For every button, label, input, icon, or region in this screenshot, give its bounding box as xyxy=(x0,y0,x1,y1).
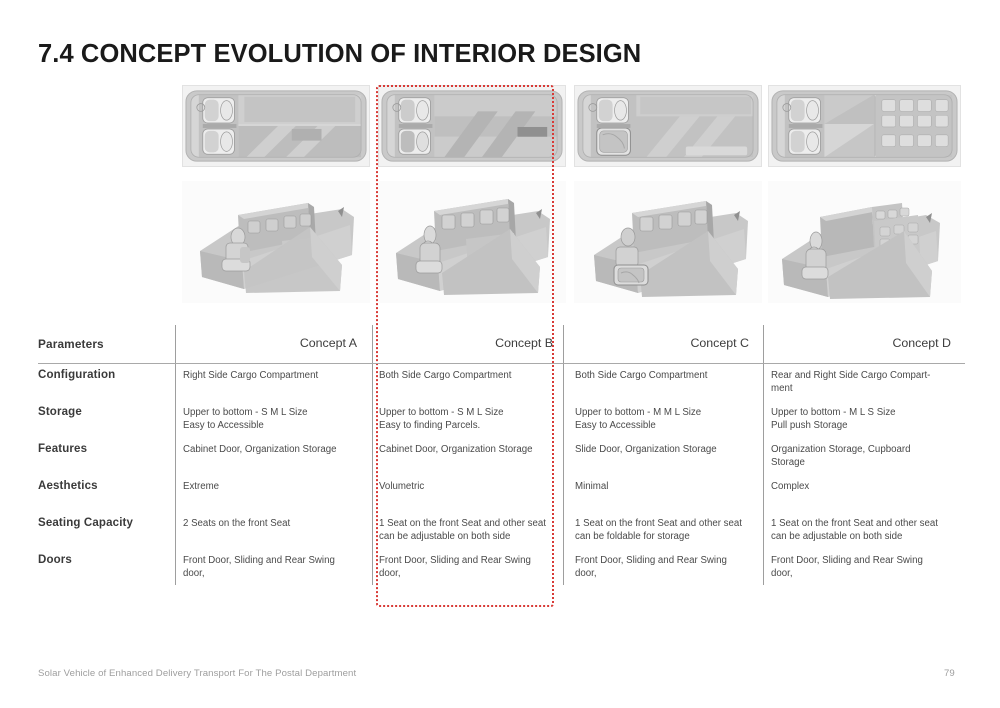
concept-figures-strip xyxy=(175,85,965,315)
concept-figure-b xyxy=(378,85,566,315)
row-value-concept-d: Rear and Right Side Cargo Compart- ment xyxy=(763,363,965,400)
row-value-concept-d: Complex xyxy=(763,474,965,511)
concept-comparison-table: Parameters Concept A Concept B Concept C… xyxy=(38,325,965,585)
page-title: 7.4 CONCEPT EVOLUTION OF INTERIOR DESIGN xyxy=(38,40,641,69)
row-value-concept-d: Upper to bottom - M L S Size Pull push S… xyxy=(763,400,965,437)
van-interior-cutaway-concept-b xyxy=(378,181,566,303)
row-value-concept-c: Slide Door, Organization Storage xyxy=(567,437,763,474)
row-label: Doors xyxy=(38,548,175,585)
row-label: Seating Capacity xyxy=(38,511,175,548)
van-interior-cutaway-concept-c xyxy=(574,181,762,303)
table-row: Configuration Right Side Cargo Compartme… xyxy=(38,363,965,400)
row-value-concept-a: Upper to bottom - S M L Size Easy to Acc… xyxy=(175,400,371,437)
row-value-concept-d: Organization Storage, Cupboard Storage xyxy=(763,437,965,474)
table-header-row: Parameters Concept A Concept B Concept C… xyxy=(38,325,965,363)
header-concept-b: Concept B xyxy=(371,337,567,350)
row-value-concept-a: Right Side Cargo Compartment xyxy=(175,363,371,400)
header-parameters-label: Parameters xyxy=(38,337,175,351)
table-row: Storage Upper to bottom - S M L Size Eas… xyxy=(38,400,965,437)
van-interior-top-view-concept-a xyxy=(182,85,370,167)
row-value-concept-b: 1 Seat on the front Seat and other seat … xyxy=(371,511,567,548)
row-value-concept-b: Volumetric xyxy=(371,474,567,511)
row-label: Configuration xyxy=(38,363,175,400)
row-value-concept-b: Upper to bottom - S M L Size Easy to fin… xyxy=(371,400,567,437)
row-label: Features xyxy=(38,437,175,474)
row-value-concept-c: Upper to bottom - M M L Size Easy to Acc… xyxy=(567,400,763,437)
row-value-concept-c: Both Side Cargo Compartment xyxy=(567,363,763,400)
row-value-concept-b: Both Side Cargo Compartment xyxy=(371,363,567,400)
row-value-concept-a: Cabinet Door, Organization Storage xyxy=(175,437,371,474)
footer-caption: Solar Vehicle of Enhanced Delivery Trans… xyxy=(38,668,356,679)
van-interior-top-view-concept-d xyxy=(768,85,961,167)
header-concept-d: Concept D xyxy=(763,337,965,350)
row-value-concept-d: 1 Seat on the front Seat and other seat … xyxy=(763,511,965,548)
table-row: Doors Front Door, Sliding and Rear Swing… xyxy=(38,548,965,585)
van-interior-cutaway-concept-a xyxy=(182,181,370,303)
header-concept-a: Concept A xyxy=(175,337,371,350)
table-row: Seating Capacity 2 Seats on the front Se… xyxy=(38,511,965,548)
header-concept-c: Concept C xyxy=(567,337,763,350)
row-value-concept-d: Front Door, Sliding and Rear Swing door, xyxy=(763,548,965,585)
row-value-concept-c: 1 Seat on the front Seat and other seat … xyxy=(567,511,763,548)
van-interior-top-view-concept-b xyxy=(378,85,566,167)
row-value-concept-b: Front Door, Sliding and Rear Swing door, xyxy=(371,548,567,585)
row-value-concept-b: Cabinet Door, Organization Storage xyxy=(371,437,567,474)
concept-figure-c xyxy=(574,85,762,315)
row-value-concept-c: Front Door, Sliding and Rear Swing door, xyxy=(567,548,763,585)
table-row: Features Cabinet Door, Organization Stor… xyxy=(38,437,965,474)
row-value-concept-a: Extreme xyxy=(175,474,371,511)
row-value-concept-c: Minimal xyxy=(567,474,763,511)
row-label: Aesthetics xyxy=(38,474,175,511)
van-interior-cutaway-concept-d xyxy=(768,181,961,303)
table-row: Aesthetics Extreme Volumetric Minimal Co… xyxy=(38,474,965,511)
row-label: Storage xyxy=(38,400,175,437)
row-value-concept-a: 2 Seats on the front Seat xyxy=(175,511,371,548)
row-value-concept-a: Front Door, Sliding and Rear Swing door, xyxy=(175,548,371,585)
concept-figure-d xyxy=(768,85,961,315)
page-number: 79 xyxy=(944,668,955,679)
van-interior-top-view-concept-c xyxy=(574,85,762,167)
concept-figure-a xyxy=(182,85,370,315)
